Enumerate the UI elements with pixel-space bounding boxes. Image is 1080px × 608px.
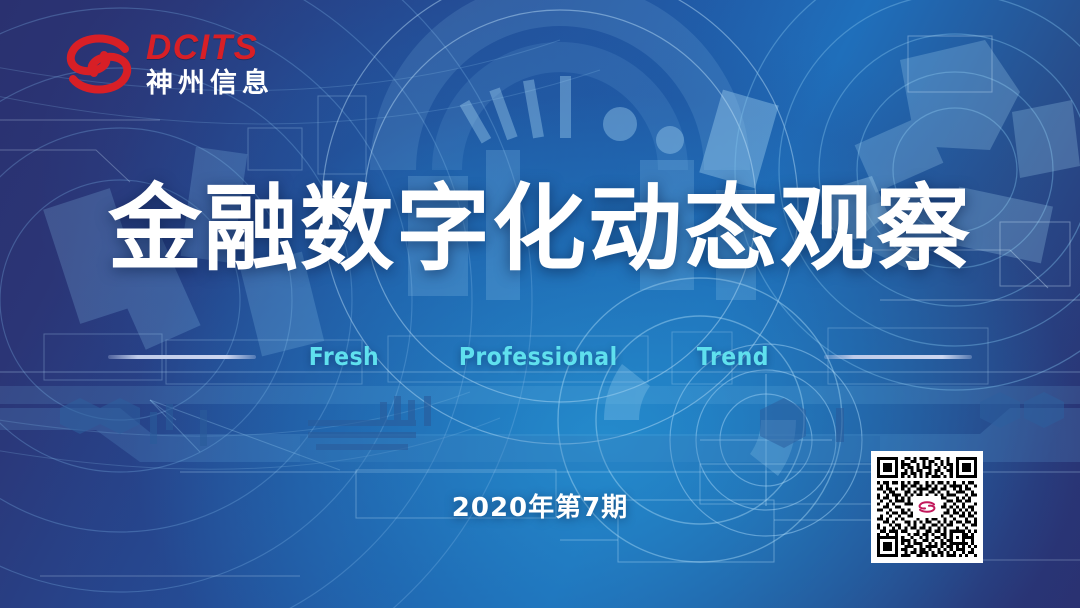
dcits-spiral-mark-icon xyxy=(62,33,136,95)
page-title: 金融数字化动态观察 xyxy=(0,183,1080,277)
qr-code[interactable] xyxy=(871,451,983,563)
qr-matrix xyxy=(877,457,977,557)
tagline-word-trend: Trend xyxy=(697,342,769,371)
brand-name-en: DCITS xyxy=(146,30,274,65)
poster-slide: DCITS 神州信息 金融数字化动态观察 Fresh Professional … xyxy=(0,0,1080,608)
qr-center-logo xyxy=(913,496,941,518)
brand-logo: DCITS 神州信息 xyxy=(62,30,274,97)
brand-wordmark: DCITS 神州信息 xyxy=(146,30,274,97)
tagline-rule-right xyxy=(824,355,972,359)
tagline-rule-left xyxy=(108,355,256,359)
tagline-word-professional: Professional xyxy=(459,342,618,371)
tagline-word-fresh: Fresh xyxy=(309,342,379,371)
tagline-row: Fresh Professional Trend xyxy=(0,342,1080,371)
brand-name-cn: 神州信息 xyxy=(146,70,274,97)
